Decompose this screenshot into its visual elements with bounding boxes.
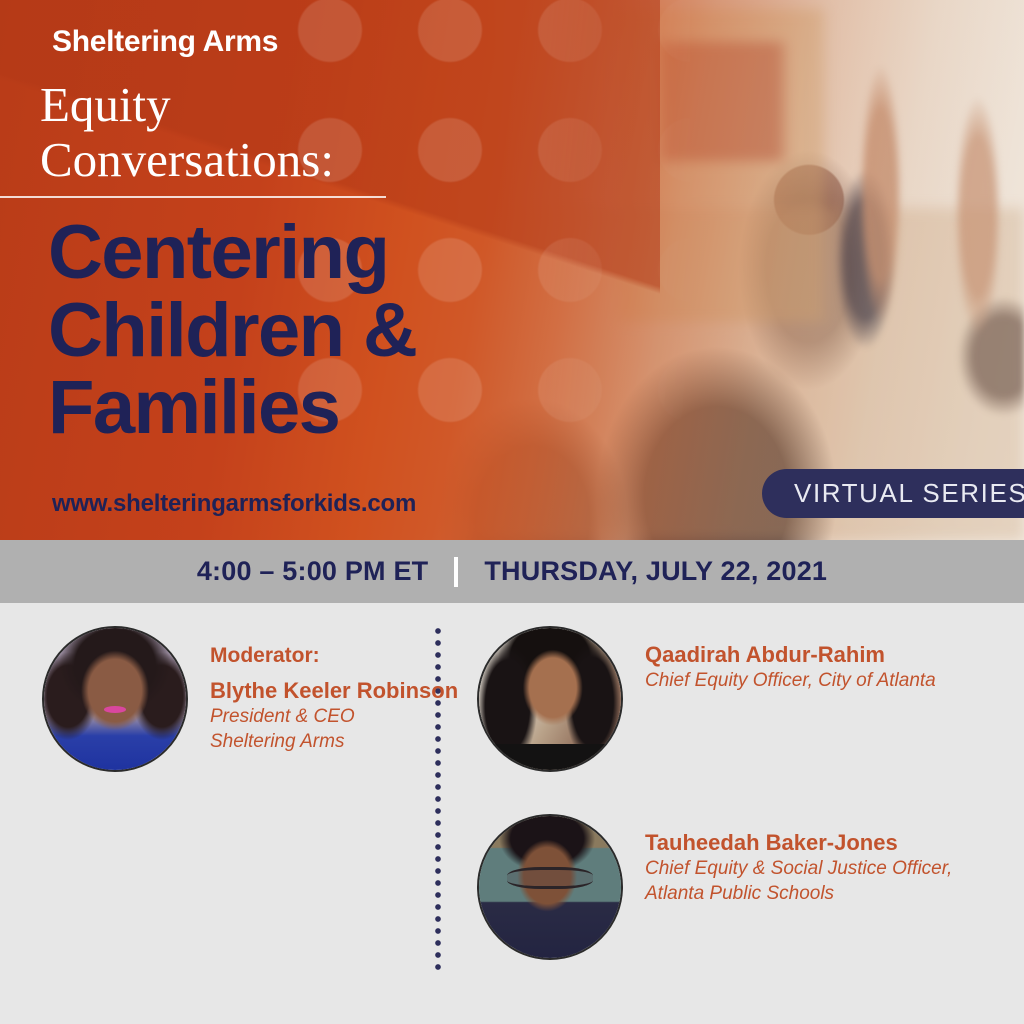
virtual-series-badge-label: VIRTUAL SERIES <box>794 478 1024 509</box>
organization-name: Sheltering Arms <box>52 25 278 59</box>
speaker-name: Tauheedah Baker-Jones <box>645 830 952 856</box>
hero-section: Sheltering Arms Equity Conversations: Ce… <box>0 0 1024 540</box>
speaker-title-line1: Chief Equity & Social Justice Officer, <box>645 857 952 881</box>
speaker-title-line1: Chief Equity Officer, City of Atlanta <box>645 669 936 693</box>
page-title-line3: Families <box>48 369 416 447</box>
speakers-panel: Moderator: Blythe Keeler Robinson Presid… <box>0 603 1024 1024</box>
moderator-title-line1: President & CEO <box>210 705 458 729</box>
moderator-name: Blythe Keeler Robinson <box>210 678 458 704</box>
speaker-title-line2: Atlanta Public Schools <box>645 882 952 906</box>
portrait-tauheedah-baker-jones <box>479 816 621 958</box>
title-divider-rule <box>0 196 386 198</box>
avatar <box>477 814 623 960</box>
speaker-details: Tauheedah Baker-Jones Chief Equity & Soc… <box>645 814 952 907</box>
page-title-line1: Centering <box>48 214 416 292</box>
page-title: Centering Children & Families <box>48 214 416 447</box>
datetime-separator <box>454 557 458 587</box>
avatar <box>477 626 623 772</box>
page-title-line2: Children & <box>48 292 416 370</box>
series-title-line2: Conversations: <box>40 133 334 188</box>
moderator-title-line2: Sheltering Arms <box>210 730 458 754</box>
website-url[interactable]: www.shelteringarmsforkids.com <box>52 490 416 518</box>
speaker-card: Qaadirah Abdur-Rahim Chief Equity Office… <box>477 626 936 772</box>
virtual-series-badge: VIRTUAL SERIES <box>762 469 1024 518</box>
series-title: Equity Conversations: <box>40 78 334 188</box>
event-datetime-bar: 4:00 – 5:00 PM ET THURSDAY, JULY 22, 202… <box>0 540 1024 603</box>
portrait-blythe-keeler-robinson <box>44 628 186 770</box>
event-date: THURSDAY, JULY 22, 2021 <box>484 556 827 587</box>
moderator-role-label: Moderator: <box>210 644 458 668</box>
avatar <box>42 626 188 772</box>
moderator-details: Moderator: Blythe Keeler Robinson Presid… <box>210 626 458 755</box>
speaker-name: Qaadirah Abdur-Rahim <box>645 642 936 668</box>
event-time: 4:00 – 5:00 PM ET <box>197 556 429 587</box>
series-title-line1: Equity <box>40 77 171 132</box>
speaker-details: Qaadirah Abdur-Rahim Chief Equity Office… <box>645 626 936 693</box>
speaker-card: Tauheedah Baker-Jones Chief Equity & Soc… <box>477 814 952 960</box>
moderator-card: Moderator: Blythe Keeler Robinson Presid… <box>42 626 458 772</box>
portrait-qaadirah-abdur-rahim <box>479 628 621 770</box>
event-flyer: Sheltering Arms Equity Conversations: Ce… <box>0 0 1024 1024</box>
